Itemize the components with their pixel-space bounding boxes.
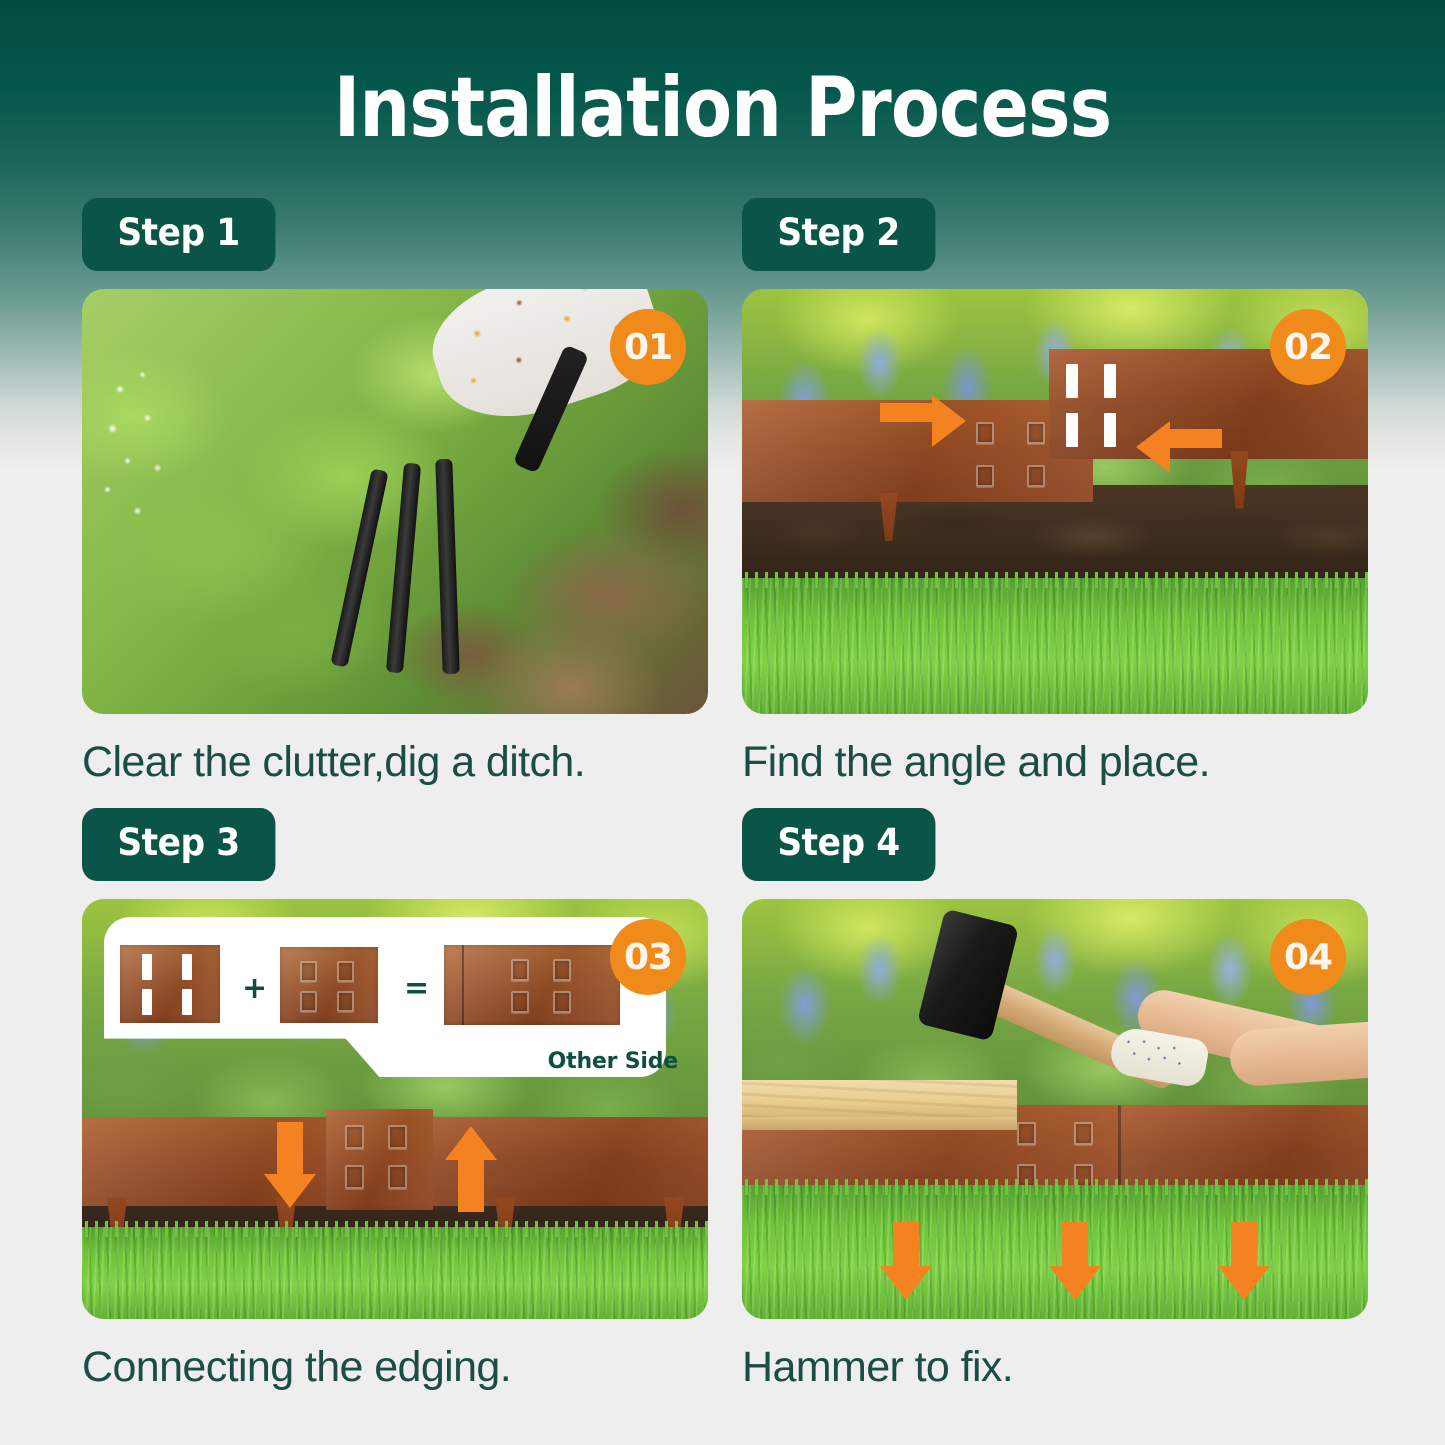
- step-image-1: 01: [82, 289, 708, 714]
- plus-sign: +: [242, 974, 267, 1004]
- clip-tab: [511, 991, 529, 1013]
- clip-slot: [976, 422, 994, 444]
- step-caption-3: Connecting the edging.: [82, 1341, 708, 1393]
- step-caption-4: Hammer to fix.: [742, 1341, 1368, 1393]
- joint-seam: [462, 945, 464, 1025]
- edging-joint-plate: [326, 1109, 432, 1210]
- step-pill-4: Step 4: [742, 808, 935, 881]
- clip-tab: [337, 961, 354, 982]
- step-card-2: Step 2: [742, 198, 1368, 788]
- step-caption-1: Clear the clutter,dig a ditch.: [82, 736, 708, 788]
- wooden-board: [742, 1080, 1017, 1118]
- step-number-badge-1: 01: [610, 309, 686, 385]
- step-card-4: Step 4: [742, 808, 1368, 1393]
- clip-tab: [337, 991, 354, 1012]
- connector-slot: [142, 989, 152, 1015]
- clip-slot: [388, 1165, 407, 1189]
- connector-slot: [1104, 413, 1116, 447]
- clip-tab: [300, 961, 317, 982]
- arrow-down-icon: [264, 1122, 316, 1208]
- arrow-up-icon: [445, 1126, 497, 1212]
- step-image-3: + =: [82, 899, 708, 1319]
- clip-slot: [388, 1125, 407, 1149]
- clip-slot: [976, 465, 994, 487]
- step-pill-1: Step 1: [82, 198, 275, 271]
- arrow-down-icon: [1049, 1222, 1101, 1300]
- clip-tab: [300, 991, 317, 1012]
- step-number-badge-2: 02: [1270, 309, 1346, 385]
- infographic-page: Installation Process Step 1 01 C: [0, 0, 1445, 1445]
- clip-slot: [1027, 422, 1045, 444]
- clip-tab: [1074, 1122, 1093, 1145]
- connector-slot: [182, 989, 192, 1015]
- white-flowers: [95, 357, 220, 536]
- connector-slot: [1066, 364, 1078, 398]
- steps-grid: Step 1 01 Clear the clutter,dig a ditch.: [82, 198, 1368, 1393]
- clip-slot: [1027, 465, 1045, 487]
- connector-slot: [1104, 364, 1116, 398]
- step-card-3: Step 3: [82, 808, 708, 1393]
- clip-slot: [345, 1125, 364, 1149]
- diagram-panel-a: [120, 945, 220, 1023]
- connector-slot: [182, 954, 192, 980]
- clip-tab: [553, 991, 571, 1013]
- step-number-badge-3: 03: [610, 919, 686, 995]
- arrow-down-icon: [1218, 1222, 1270, 1300]
- clip-tab: [1017, 1122, 1036, 1145]
- arrow-down-icon: [880, 1222, 932, 1300]
- step-pill-2: Step 2: [742, 198, 935, 271]
- step-pill-3: Step 3: [82, 808, 275, 881]
- other-side-label: Other Side: [548, 1049, 678, 1307]
- step-image-2: 02: [742, 289, 1368, 714]
- clip-tab: [511, 959, 529, 981]
- lawn-grass: [742, 578, 1368, 714]
- arrow-left-icon: [1136, 421, 1222, 455]
- board-edge: [742, 1117, 1017, 1130]
- arrow-right-icon: [880, 395, 966, 429]
- step-image-4: 04: [742, 899, 1368, 1319]
- step-caption-2: Find the angle and place.: [742, 736, 1368, 788]
- diagram-panel-b: [280, 947, 378, 1023]
- equals-sign: =: [404, 974, 429, 1004]
- step-card-1: Step 1 01 Clear the clutter,dig a ditch.: [82, 198, 708, 788]
- page-title: Installation Process: [101, 58, 1344, 158]
- clip-slot: [345, 1165, 364, 1189]
- diagram-panel-result: [444, 945, 620, 1025]
- connector-slot: [1066, 413, 1078, 447]
- step-number-badge-4: 04: [1270, 919, 1346, 995]
- clip-tab: [553, 959, 571, 981]
- connector-slot: [142, 954, 152, 980]
